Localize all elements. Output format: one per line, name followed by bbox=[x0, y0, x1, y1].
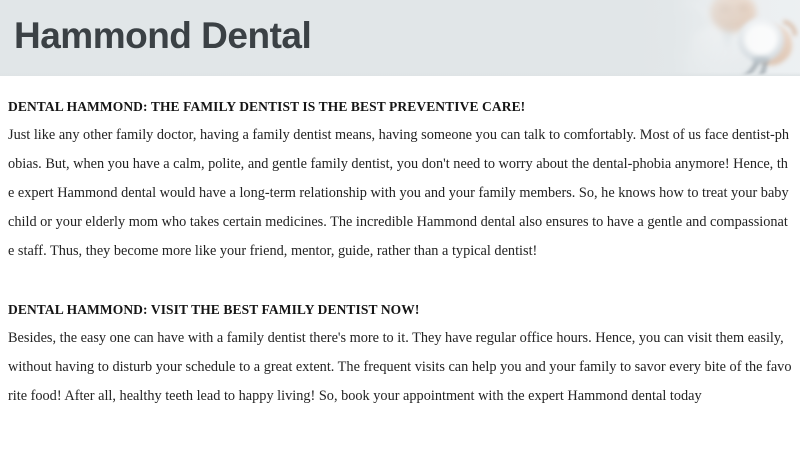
header-bottom-divider bbox=[0, 72, 800, 76]
doctor-stethoscope-photo bbox=[635, 0, 800, 76]
page-title: Hammond Dental bbox=[14, 14, 311, 58]
article-body: DENTAL HAMMOND: THE FAMILY DENTIST IS TH… bbox=[0, 92, 800, 411]
section-paragraph: Just like any other family doctor, havin… bbox=[8, 121, 792, 266]
section-paragraph: Besides, the easy one can have with a fa… bbox=[8, 324, 792, 411]
site-header: Hammond Dental bbox=[0, 0, 800, 76]
article-section: DENTAL HAMMOND: VISIT THE BEST FAMILY DE… bbox=[8, 295, 792, 411]
article-section: DENTAL HAMMOND: THE FAMILY DENTIST IS TH… bbox=[8, 92, 792, 266]
document-page: Hammond Dental bbox=[0, 0, 800, 450]
section-heading: DENTAL HAMMOND: THE FAMILY DENTIST IS TH… bbox=[8, 92, 792, 121]
section-heading: DENTAL HAMMOND: VISIT THE BEST FAMILY DE… bbox=[8, 295, 792, 324]
